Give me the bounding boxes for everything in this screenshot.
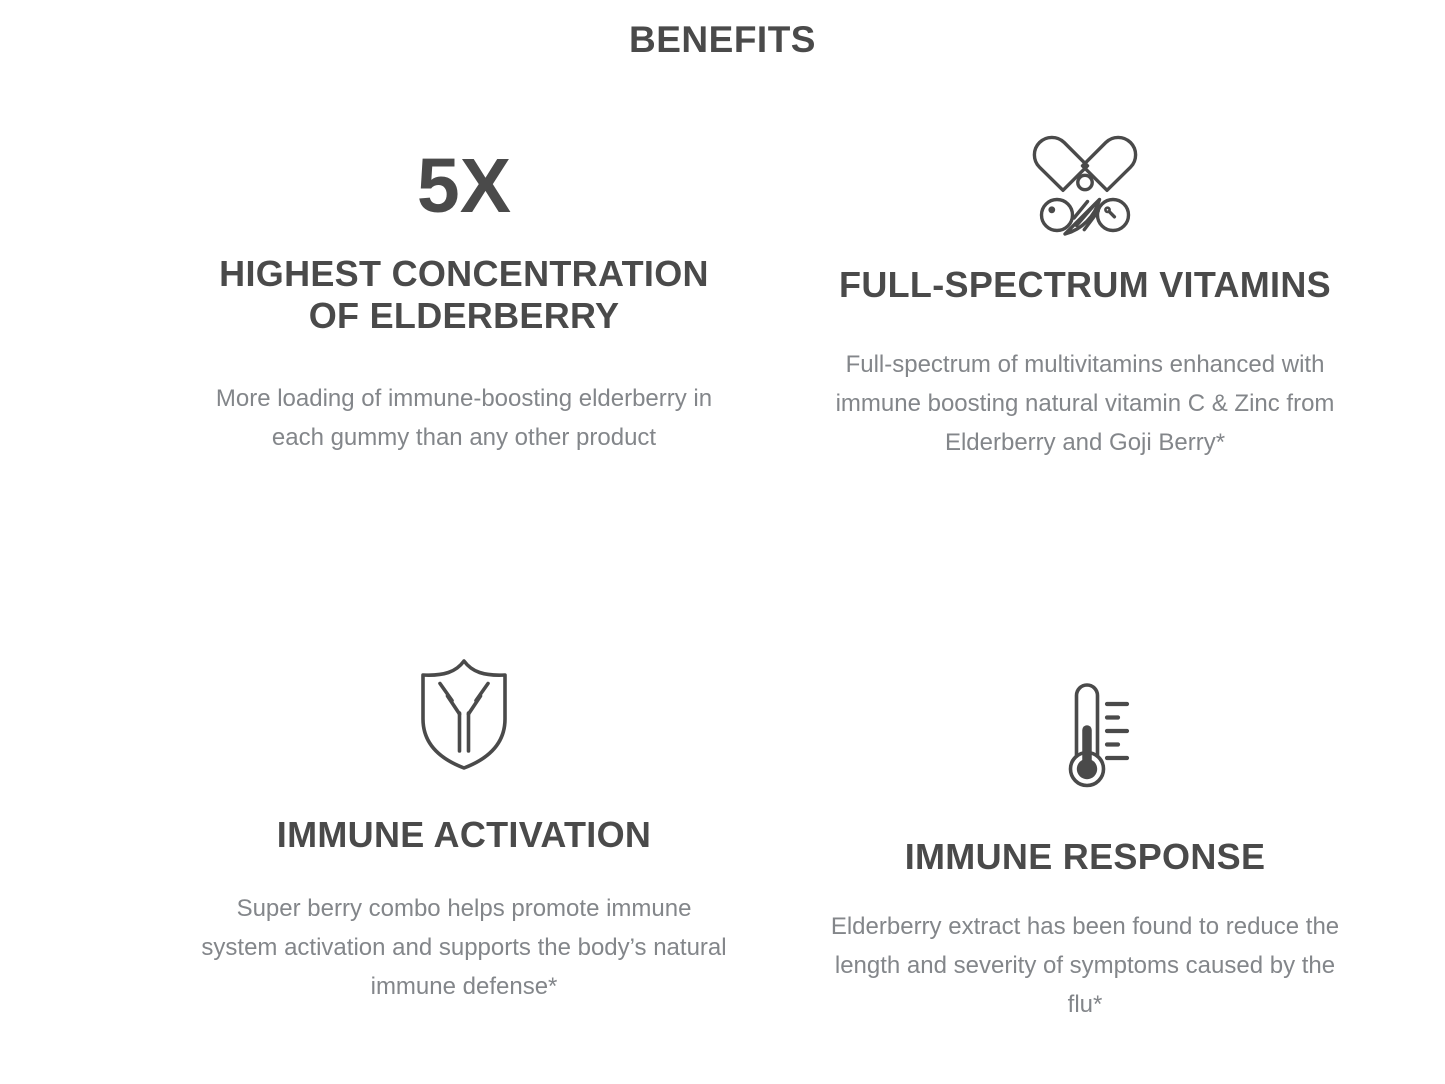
benefit-body-immune-activation: Super berry combo helps promote immune s… <box>199 890 729 1007</box>
benefit-title-highest-concentration: HIGHEST CONCENTRATION OF ELDERBERRY <box>199 253 729 338</box>
shield-antibody-icon <box>199 654 729 772</box>
page-title: BENEFITS <box>0 0 1445 61</box>
benefit-body-full-spectrum-vitamins: Full-spectrum of multivitamins enhanced … <box>820 346 1350 463</box>
benefit-title-immune-response: IMMUNE RESPONSE <box>820 836 1350 878</box>
benefit-card-immune-response: IMMUNE RESPONSE Elderberry extract has b… <box>723 650 1445 1084</box>
benefit-body-highest-concentration: More loading of immune-boosting elderber… <box>199 380 729 458</box>
benefit-body-immune-response: Elderberry extract has been found to red… <box>820 908 1350 1025</box>
benefits-grid: 5X HIGHEST CONCENTRATION OF ELDERBERRY M… <box>0 100 1445 1084</box>
benefits-page: BENEFITS 5X HIGHEST CONCENTRATION OF ELD… <box>0 0 1445 1084</box>
thermometer-icon <box>820 678 1350 790</box>
stat-value-5x: 5X <box>199 148 729 225</box>
capsule-citrus-icon <box>820 128 1350 240</box>
benefit-title-immune-activation: IMMUNE ACTIVATION <box>199 814 729 856</box>
benefit-card-immune-activation: IMMUNE ACTIVATION Super berry combo help… <box>0 650 723 1084</box>
benefit-title-full-spectrum-vitamins: FULL-SPECTRUM VITAMINS <box>820 264 1350 306</box>
benefit-card-full-spectrum-vitamins: FULL-SPECTRUM VITAMINS Full-spectrum of … <box>723 100 1445 650</box>
benefit-card-highest-concentration: 5X HIGHEST CONCENTRATION OF ELDERBERRY M… <box>0 100 723 650</box>
